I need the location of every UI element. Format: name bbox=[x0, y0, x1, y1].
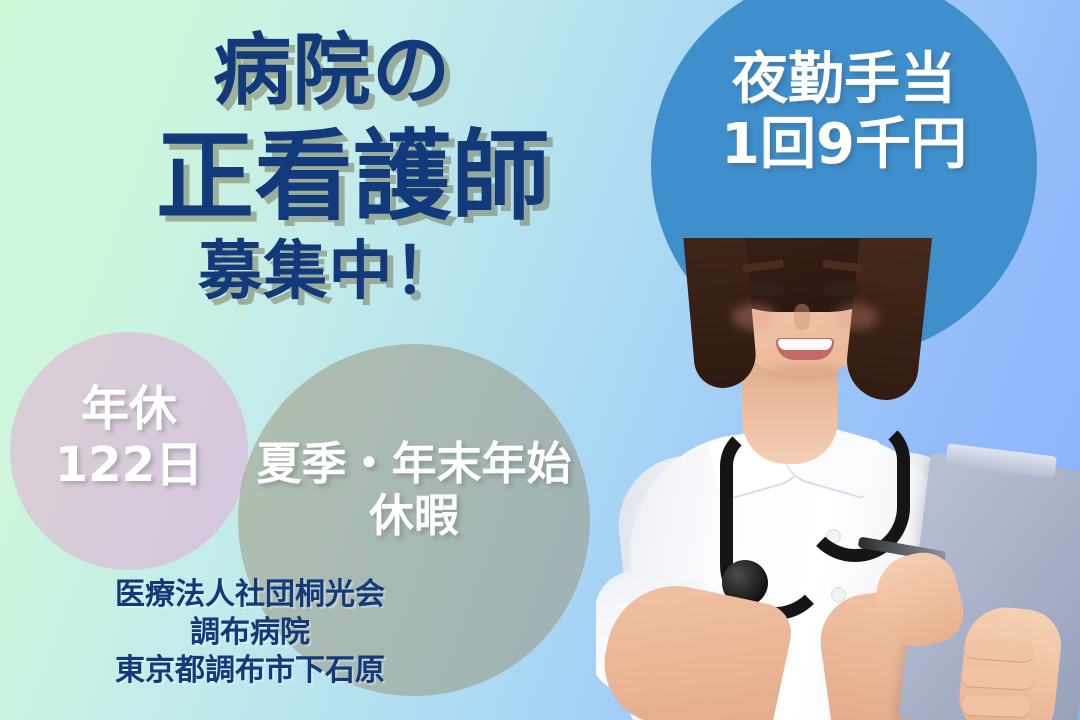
night-shift-allowance-label: 夜勤手当 bbox=[651, 48, 1037, 113]
night-shift-allowance-text: 夜勤手当 1回9千円 bbox=[651, 48, 1037, 178]
headline-line-1: 病院の bbox=[213, 32, 452, 110]
nurse-photo bbox=[596, 238, 1080, 720]
annual-holidays-count: 122日 bbox=[10, 438, 248, 494]
chin-shadow bbox=[764, 364, 844, 380]
cheek-left bbox=[732, 304, 776, 330]
teeth bbox=[778, 339, 832, 350]
night-shift-allowance-amount: 1回9千円 bbox=[651, 113, 1037, 178]
uniform-button-lower bbox=[832, 588, 845, 601]
annual-holidays-text: 年休 122日 bbox=[10, 382, 248, 493]
cheek-right bbox=[834, 304, 878, 330]
organization-name: 医療法人社団桐光会 bbox=[40, 576, 460, 614]
eye-right bbox=[824, 282, 862, 296]
headline-line-2: 正看護師 bbox=[156, 128, 550, 226]
headline-line-3: 募集中！ bbox=[198, 240, 459, 304]
seasonal-leave-text: 夏季・年末年始 休暇 bbox=[238, 438, 590, 542]
stethoscope-right-tube bbox=[800, 418, 910, 562]
recruitment-poster: 病院の 正看護師 募集中！ 夜勤手当 1回9千円 年休 122日 夏季・年末年始… bbox=[0, 0, 1080, 720]
finger-ring bbox=[962, 695, 1031, 717]
eye-left bbox=[746, 282, 784, 296]
annual-holidays-label: 年休 bbox=[10, 382, 248, 438]
seasonal-leave-label: 夏季・年末年始 bbox=[238, 438, 590, 490]
employer-info: 医療法人社団桐光会 調布病院 東京都調布市下石原 bbox=[40, 576, 460, 690]
hospital-name: 調布病院 bbox=[40, 614, 460, 652]
nose bbox=[794, 304, 810, 330]
hospital-address: 東京都調布市下石原 bbox=[40, 652, 460, 690]
seasonal-leave-value: 休暇 bbox=[238, 490, 590, 542]
finger-middle bbox=[962, 666, 1035, 690]
